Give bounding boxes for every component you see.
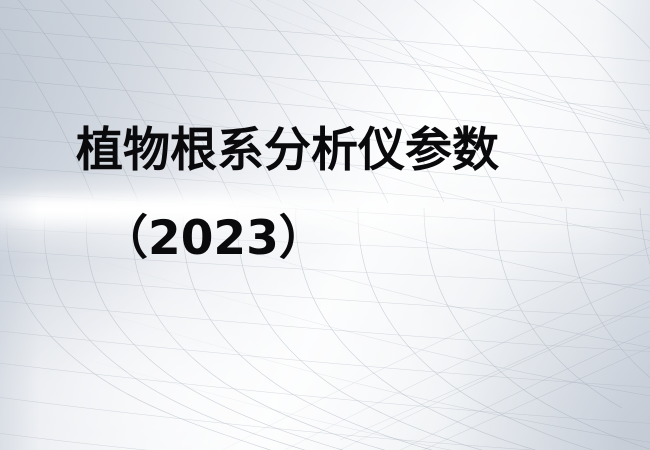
slide-title: 植物根系分析仪参数	[76, 126, 499, 176]
slide-subtitle-year: （2023）	[101, 214, 326, 264]
title-text-block: 植物根系分析仪参数 （2023）	[0, 0, 650, 450]
title-slide: 植物根系分析仪参数 （2023）	[0, 0, 650, 450]
